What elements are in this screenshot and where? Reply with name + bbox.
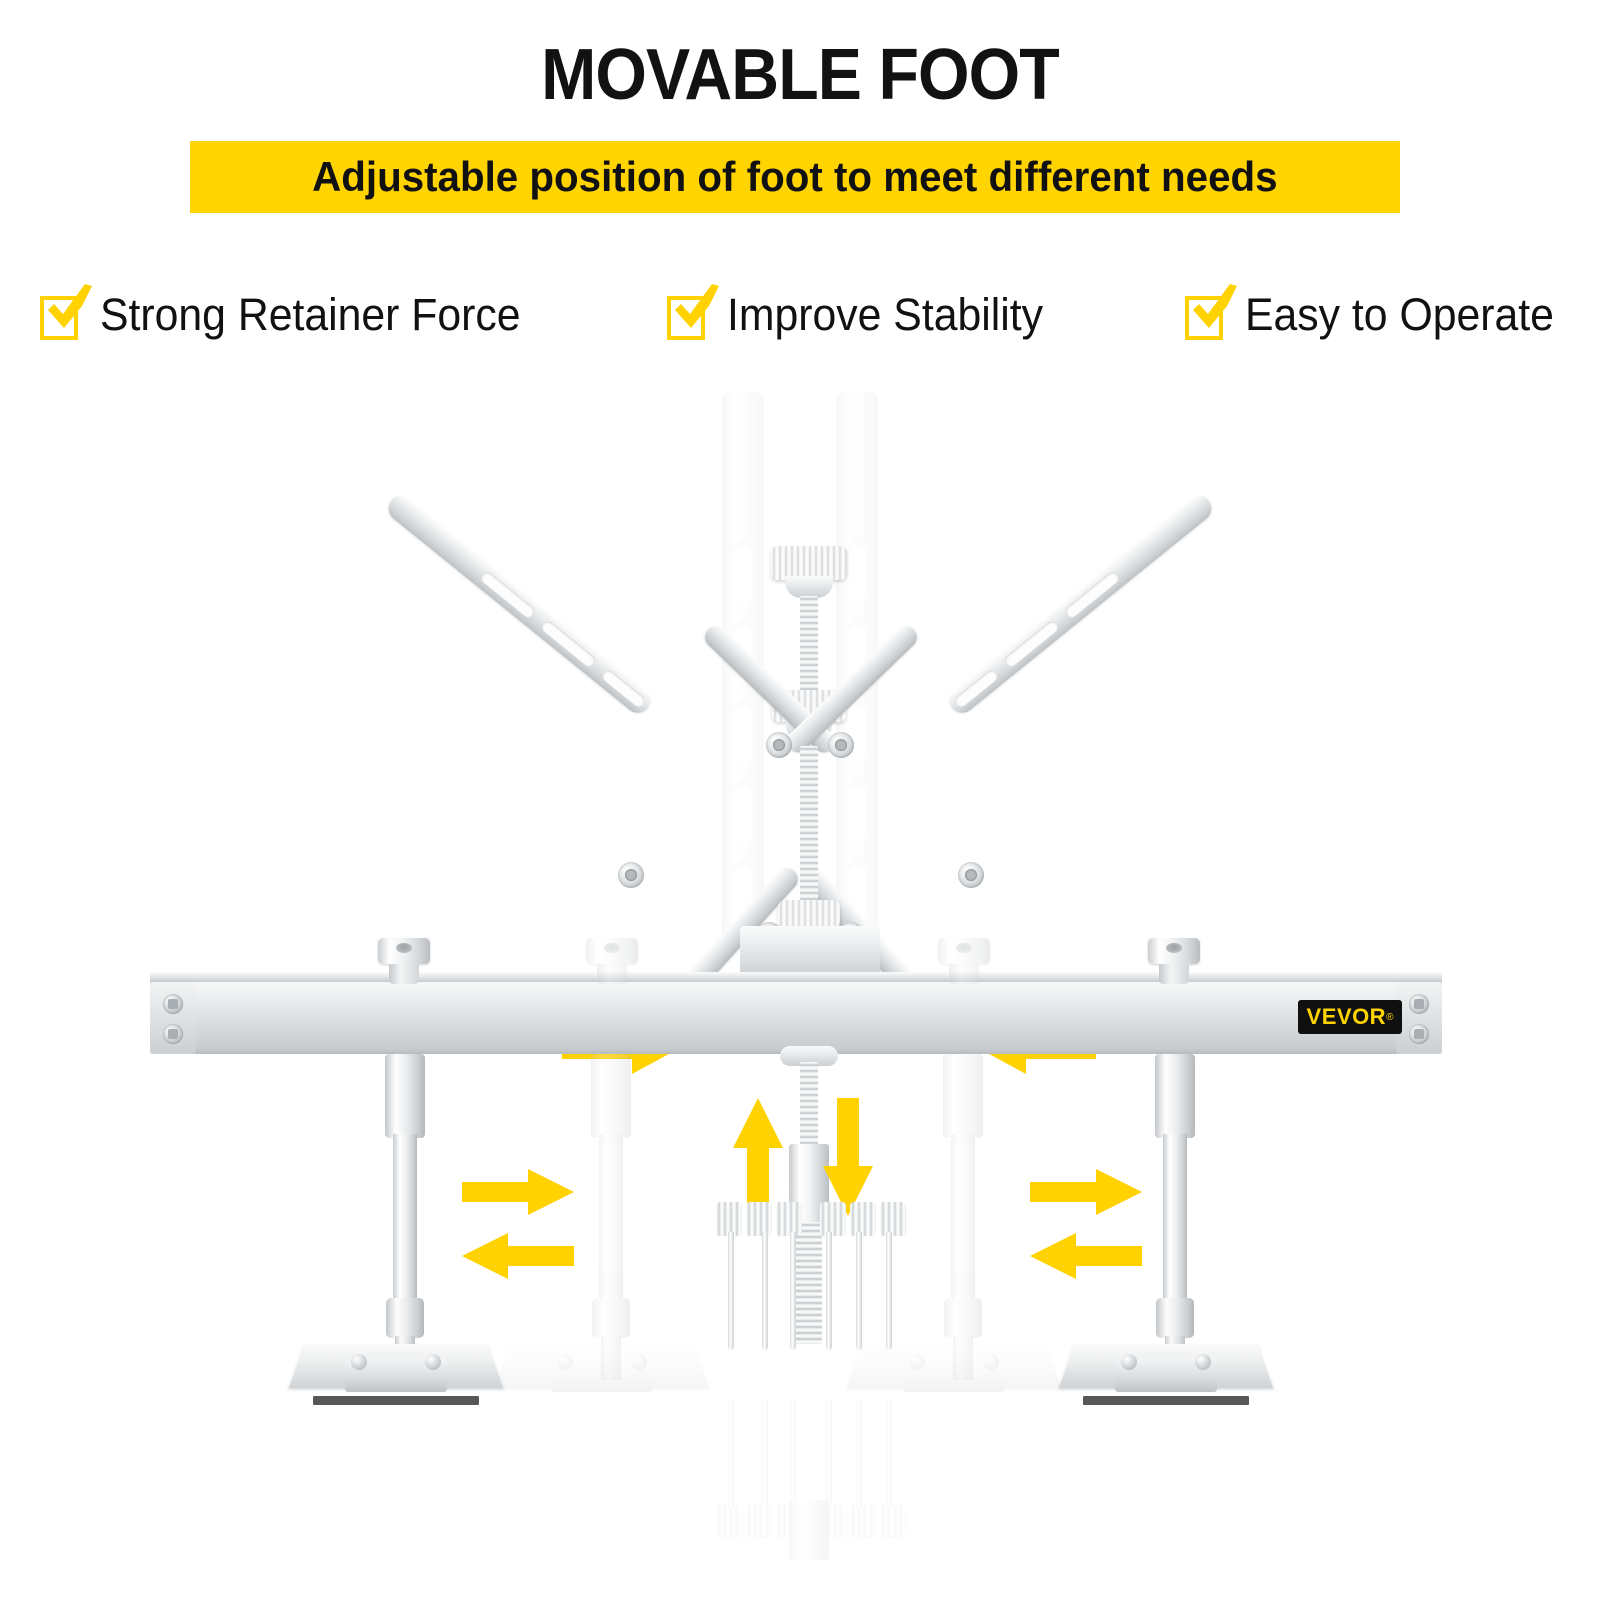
feature-item-easy-to-operate: Easy to Operate	[1185, 289, 1570, 341]
feature-list: Strong Retainer Force Improve Stability …	[40, 275, 1570, 355]
claw-pin	[790, 1232, 796, 1350]
upper-threaded-rod	[800, 596, 818, 692]
check-box-icon	[667, 292, 713, 338]
hex-screw-icon	[1409, 994, 1429, 1014]
claw-pin	[826, 1232, 832, 1350]
pivot-bolt-left	[618, 862, 644, 888]
check-mark-icon	[1183, 280, 1243, 340]
pivot-bolt-top-left	[766, 732, 792, 758]
top-knob-base	[785, 576, 833, 598]
feature-label: Easy to Operate	[1245, 289, 1554, 341]
claw-reflection	[0, 1360, 1600, 1560]
subtitle-banner: Adjustable position of foot to meet diff…	[190, 141, 1400, 213]
feature-label: Strong Retainer Force	[100, 289, 521, 341]
hex-screw-icon	[163, 1024, 183, 1044]
center-up-arrow	[732, 1098, 784, 1216]
top-adjust-knob[interactable]	[771, 546, 847, 580]
registered-trademark-icon: ®	[1386, 1012, 1393, 1023]
lower-adjust-knob[interactable]	[778, 900, 840, 928]
hex-screw-icon	[163, 994, 183, 1014]
pivot-bolt-top-right	[828, 732, 854, 758]
lock-knob-right-outer[interactable]	[1148, 938, 1200, 968]
right-foot-right-arrow	[1030, 1168, 1142, 1216]
product-marketing-image: MOVABLE FOOT Adjustable position of foot…	[0, 0, 1600, 1600]
v-arm-left[interactable]	[383, 490, 656, 718]
check-box-icon	[1185, 292, 1231, 338]
left-foot-left-arrow	[462, 1232, 574, 1280]
page-title: MOVABLE FOOT	[64, 34, 1536, 116]
subtitle-text: Adjustable position of foot to meet diff…	[312, 153, 1277, 201]
claw-pin	[886, 1232, 892, 1350]
product-illustration: VEVOR ®	[0, 360, 1600, 1600]
main-bar	[150, 982, 1442, 1054]
feature-item-improve-stability: Improve Stability	[667, 289, 1060, 341]
hex-screw-icon	[1409, 1024, 1429, 1044]
claw-assembly	[716, 1200, 906, 1240]
center-down-arrow	[822, 1098, 874, 1216]
bar-end-cap-right	[1396, 982, 1442, 1054]
v-arm-right[interactable]	[944, 490, 1217, 718]
puller-lower-thread	[794, 1222, 822, 1344]
puller-threaded-rod	[800, 1062, 818, 1148]
feature-item-strong-retainer-force: Strong Retainer Force	[40, 289, 543, 341]
left-foot-right-arrow	[462, 1168, 574, 1216]
center-carriage-block[interactable]	[740, 926, 880, 978]
claw-pin	[762, 1232, 768, 1350]
claw-pin	[728, 1232, 734, 1350]
right-foot-left-arrow	[1030, 1232, 1142, 1280]
lock-knob-left-inner-ghost	[586, 938, 638, 968]
vevor-logo-badge: VEVOR ®	[1298, 1000, 1402, 1034]
check-box-icon	[40, 292, 86, 338]
center-threaded-rod	[800, 746, 818, 926]
bar-end-cap-left	[150, 982, 196, 1054]
pivot-bolt-right	[958, 862, 984, 888]
feature-label: Improve Stability	[727, 289, 1043, 341]
claw-pin	[856, 1232, 862, 1350]
brand-name: VEVOR	[1307, 1004, 1387, 1030]
check-mark-icon	[38, 280, 98, 340]
lock-knob-right-inner-ghost	[938, 938, 990, 968]
lock-knob-left-outer[interactable]	[378, 938, 430, 968]
check-mark-icon	[665, 280, 725, 340]
